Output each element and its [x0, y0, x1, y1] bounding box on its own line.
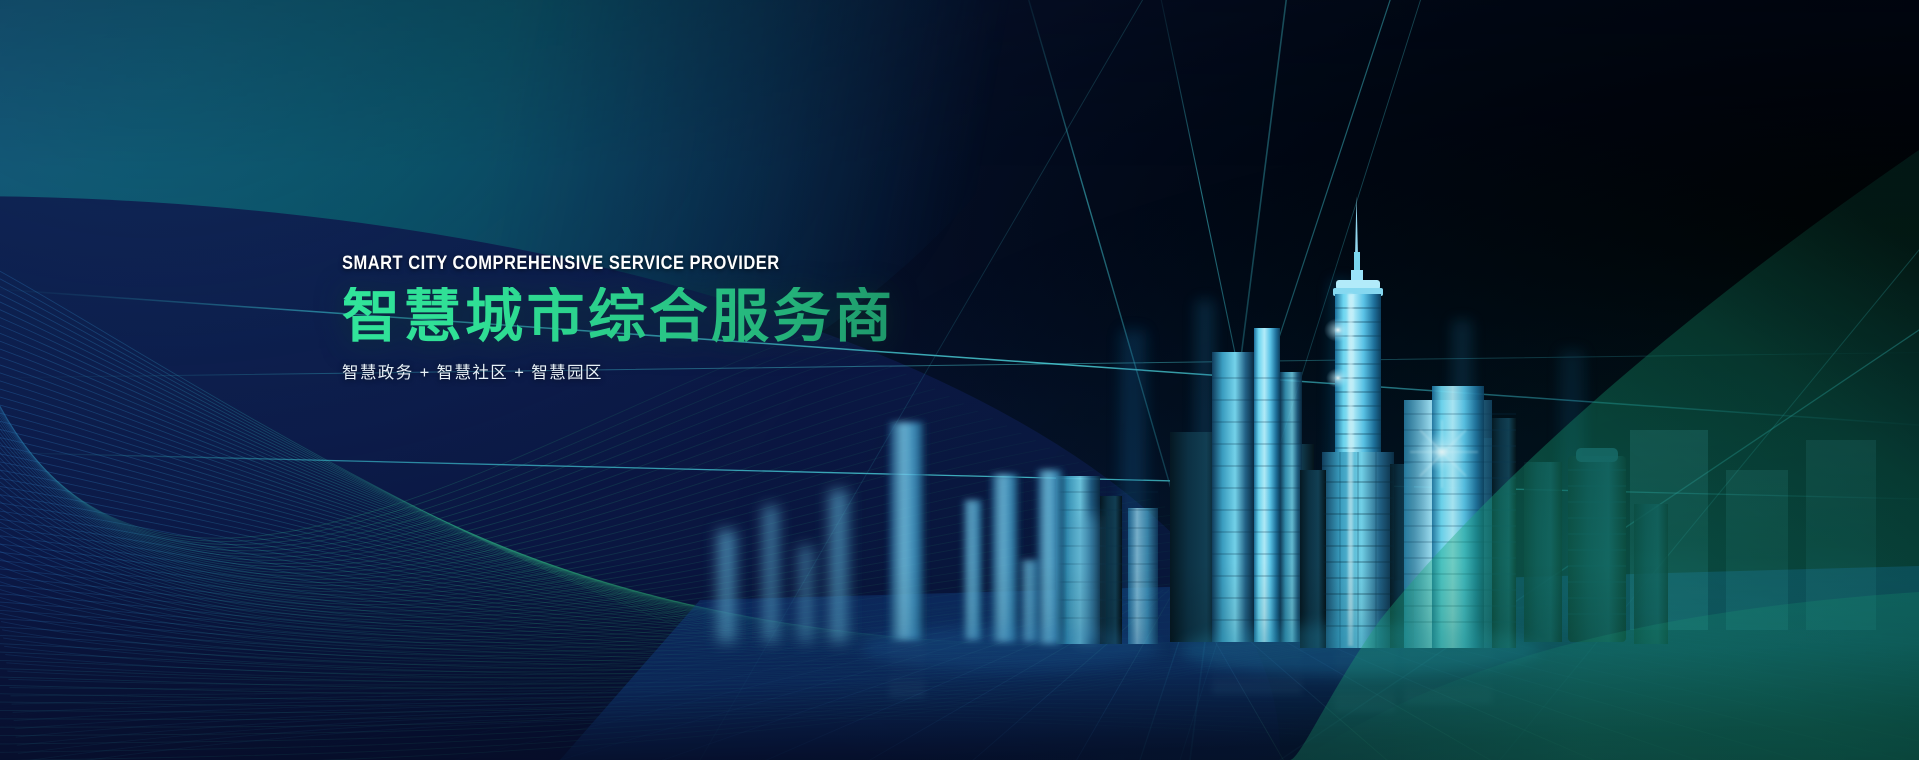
subtitle-text: 智慧政务 + 智慧社区 + 智慧园区 — [342, 359, 982, 383]
hero-copy: SMART CITY COMPREHENSIVE SERVICE PROVIDE… — [342, 252, 982, 383]
page-title: 智慧城市综合服务商 — [342, 287, 982, 346]
smart-city-banner: SMART CITY COMPREHENSIVE SERVICE PROVIDE… — [0, 0, 1919, 760]
eyebrow-text: SMART CITY COMPREHENSIVE SERVICE PROVIDE… — [342, 252, 883, 275]
